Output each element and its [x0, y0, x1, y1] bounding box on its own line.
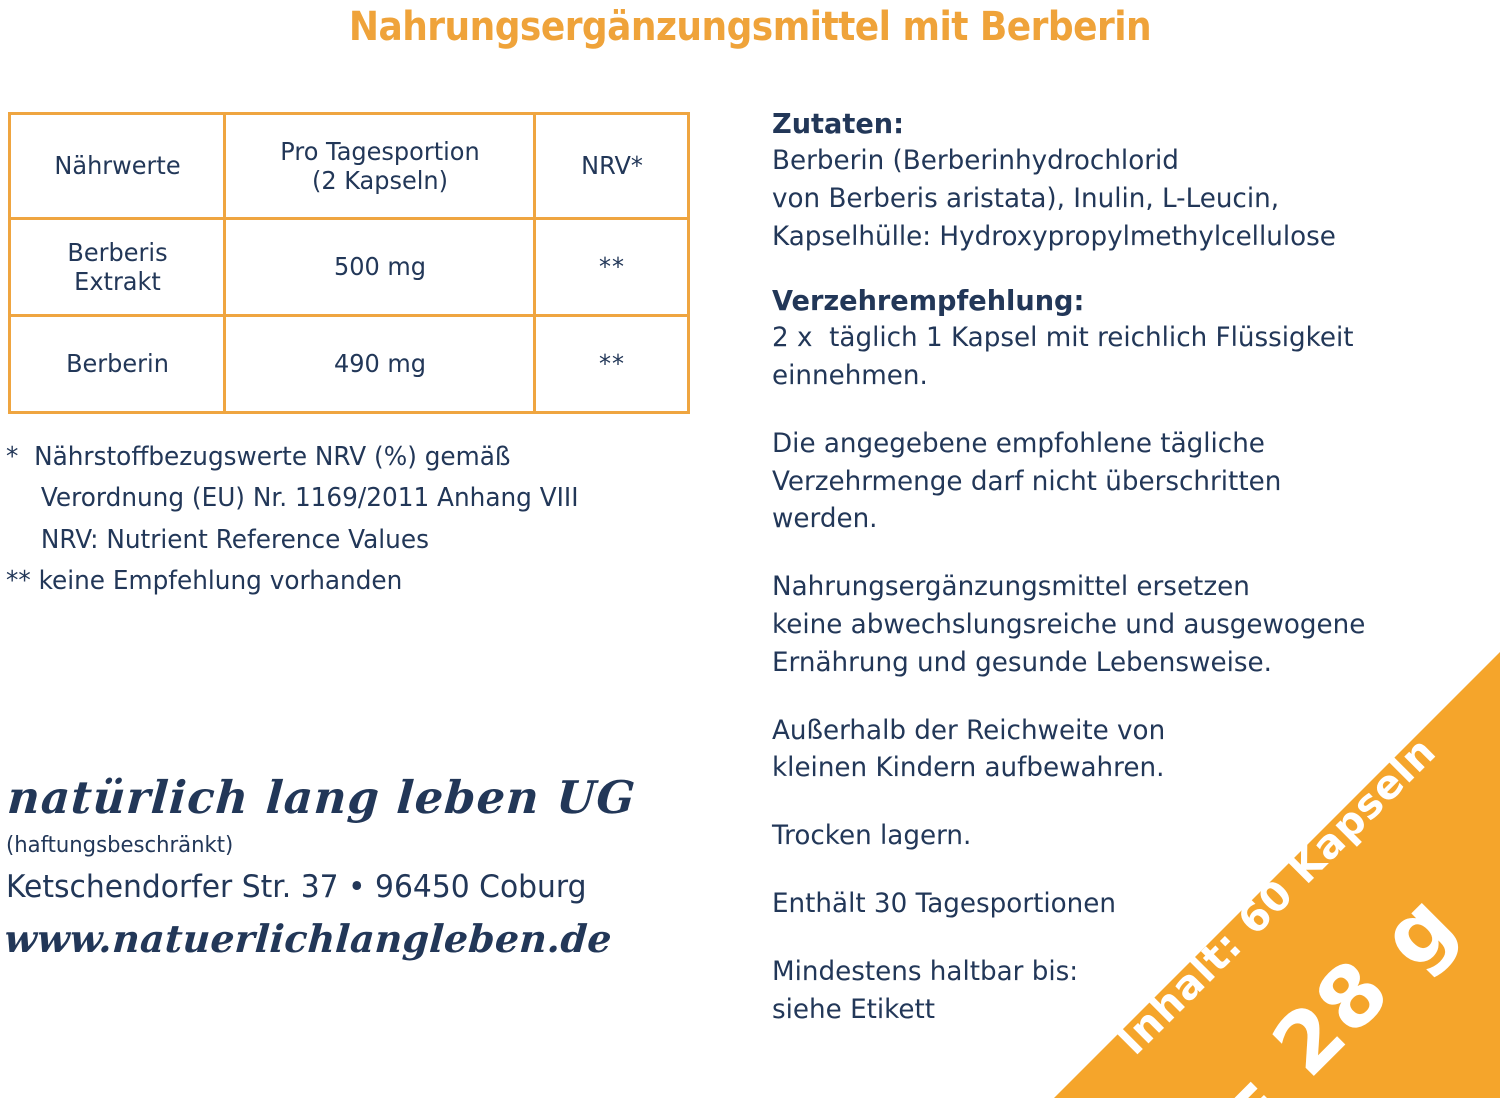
- warning-max-dose-line-1: Die angegebene empfohlene tägliche: [772, 425, 1412, 463]
- row0-name-line2: Extrakt: [74, 267, 161, 296]
- table-cell-name-berberis-extrakt: Berberis Extrakt: [14, 219, 220, 316]
- table-cell-amount-berberin: 490 mg: [231, 316, 529, 413]
- company-name: natürlich lang leben UG: [6, 775, 722, 820]
- table-row: Berberin 490 mg **: [10, 316, 689, 413]
- company-website: www.natuerlichlangleben.de: [3, 918, 719, 960]
- table-row: Berberis Extrakt 500 mg **: [10, 219, 689, 316]
- spacer: [772, 682, 1432, 712]
- warning-no-substitute-line-2: keine abwechslungsreiche und ausgewogene: [772, 606, 1412, 644]
- ingredients-line-1: Berberin (Berberinhydrochlorid: [772, 142, 1412, 180]
- dosage-line-2: einnehmen.: [772, 357, 1412, 395]
- company-address: Ketschendorfer Str. 37 • 96450 Coburg: [6, 869, 697, 906]
- table-header-per-serving-line2: (2 Kapseln): [311, 166, 447, 195]
- page-title: Nahrungsergänzungsmittel mit Berberin: [75, 4, 1425, 50]
- ingredients-line-3: Kapselhülle: Hydroxypropylmethylcellulos…: [772, 218, 1412, 256]
- spacer: [772, 923, 1432, 953]
- spacer: [772, 787, 1432, 817]
- product-info-column: Zutaten: Berberin (Berberinhydrochlorid …: [772, 106, 1432, 1028]
- table-header-per-serving-line1: Pro Tagesportion: [280, 137, 479, 166]
- nutrition-table: Nährwerte Pro Tagesportion (2 Kapseln) N…: [8, 112, 690, 414]
- warning-no-substitute: Nahrungsergänzungsmittel ersetzen keine …: [772, 568, 1412, 681]
- footnote-line-3: NRV: Nutrient Reference Values: [6, 520, 685, 561]
- footnote-line-1: * Nährstoffbezugswerte NRV (%) gemäß: [6, 437, 685, 478]
- warning-max-dose: Die angegebene empfohlene tägliche Verze…: [772, 425, 1412, 538]
- table-header-row: Nährwerte Pro Tagesportion (2 Kapseln) N…: [10, 114, 689, 219]
- table-cell-amount-berberis-extrakt: 500 mg: [231, 219, 529, 316]
- best-before-line-1: Mindestens haltbar bis:: [772, 953, 1412, 991]
- table-cell-nrv-berberis-extrakt: **: [538, 219, 686, 316]
- footnote-line-2: Verordnung (EU) Nr. 1169/2011 Anhang VII…: [6, 478, 685, 519]
- spacer: [772, 395, 1432, 425]
- warning-no-substitute-line-3: Ernährung und gesunde Lebensweise.: [772, 644, 1412, 682]
- table-header-per-serving: Pro Tagesportion (2 Kapseln): [231, 114, 529, 219]
- dosage-line-1: 2 x täglich 1 Kapsel mit reichlich Flüss…: [772, 319, 1412, 357]
- warning-no-substitute-line-1: Nahrungsergänzungsmittel ersetzen: [772, 568, 1412, 606]
- warning-max-dose-line-2: Verzehrmenge darf nicht überschritten: [772, 463, 1412, 501]
- dosage-heading: Verzehrempfehlung:: [772, 283, 1412, 319]
- ingredients-text: Berberin (Berberinhydrochlorid von Berbe…: [772, 142, 1412, 255]
- footnote-line-4: ** keine Empfehlung vorhanden: [6, 561, 685, 602]
- warning-keep-away-children-line-2: kleinen Kindern aufbewahren.: [772, 749, 1412, 787]
- warning-max-dose-line-3: werden.: [772, 500, 1412, 538]
- table-cell-nrv-berberin: **: [538, 316, 686, 413]
- spacer: [772, 256, 1432, 283]
- warning-keep-away-children-line-1: Außerhalb der Reichweite von: [772, 712, 1412, 750]
- servings-count: Enthält 30 Tagesportionen: [772, 885, 1412, 923]
- ingredients-line-2: von Berberis aristata), Inulin, L-Leucin…: [772, 180, 1412, 218]
- best-before: Mindestens haltbar bis: siehe Etikett: [772, 953, 1412, 1029]
- table-cell-name-berberin: Berberin: [14, 316, 220, 413]
- warning-keep-away-children: Außerhalb der Reichweite von kleinen Kin…: [772, 712, 1412, 788]
- storage-instruction: Trocken lagern.: [772, 817, 1412, 855]
- ingredients-heading: Zutaten:: [772, 106, 1412, 142]
- table-footnotes: * Nährstoffbezugswerte NRV (%) gemäß Ver…: [6, 437, 685, 602]
- dosage-text: 2 x täglich 1 Kapsel mit reichlich Flüss…: [772, 319, 1412, 395]
- company-block: natürlich lang leben UG (haftungsbeschrä…: [6, 775, 726, 959]
- best-before-line-2: siehe Etikett: [772, 991, 1412, 1029]
- nutrition-table-container: Nährwerte Pro Tagesportion (2 Kapseln) N…: [8, 112, 708, 414]
- table-header-nutrients: Nährwerte: [14, 114, 220, 219]
- row0-name-line1: Berberis: [67, 238, 167, 267]
- spacer: [772, 538, 1432, 568]
- company-legal-form: (haftungsbeschränkt): [6, 832, 697, 860]
- table-header-nrv: NRV*: [538, 114, 686, 219]
- spacer: [772, 855, 1432, 885]
